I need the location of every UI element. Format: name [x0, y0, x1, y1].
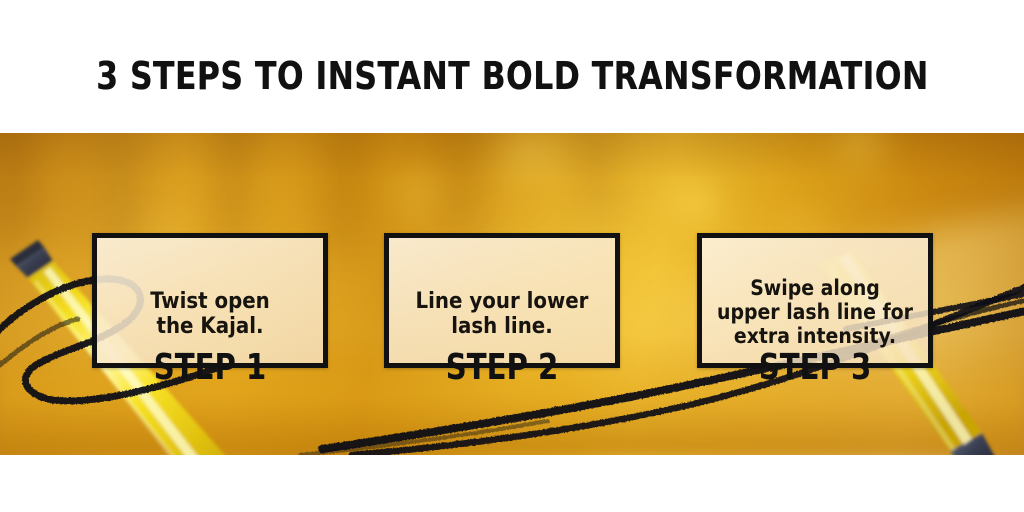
step-1-body: Twist open the Kajal. — [97, 289, 323, 339]
step-2-line-1: Line your lower — [389, 289, 615, 314]
step-3-heading-text: STEP 3 — [759, 347, 872, 388]
step-1-heading-text: STEP 1 — [154, 347, 267, 388]
step-1-line-1: Twist open — [97, 289, 323, 314]
step-2-body: Line your lower lash line. — [389, 289, 615, 339]
step-1-heading: STEP 1 — [138, 347, 281, 388]
step-3-line-2: upper lash line for — [702, 301, 928, 325]
step-2-heading: STEP 2 — [430, 347, 573, 388]
headline-bar: 3 STEPS TO INSTANT BOLD TRANSFORMATION — [0, 0, 1024, 133]
page-title: 3 STEPS TO INSTANT BOLD TRANSFORMATION — [96, 54, 929, 98]
step-3-line-1: Swipe along — [702, 277, 928, 301]
step-3-heading: STEP 3 — [743, 347, 886, 388]
step-2-line-2: lash line. — [389, 314, 615, 339]
step-3-line-3: extra intensity. — [702, 325, 928, 349]
hero-banner: Twist open the Kajal. STEP 1 Line your l… — [0, 133, 1024, 455]
step-1-line-2: the Kajal. — [97, 314, 323, 339]
step-2-heading-text: STEP 2 — [446, 347, 559, 388]
banner-page: 3 STEPS TO INSTANT BOLD TRANSFORMATION — [0, 0, 1024, 512]
step-3-body: Swipe along upper lash line for extra in… — [702, 277, 928, 349]
